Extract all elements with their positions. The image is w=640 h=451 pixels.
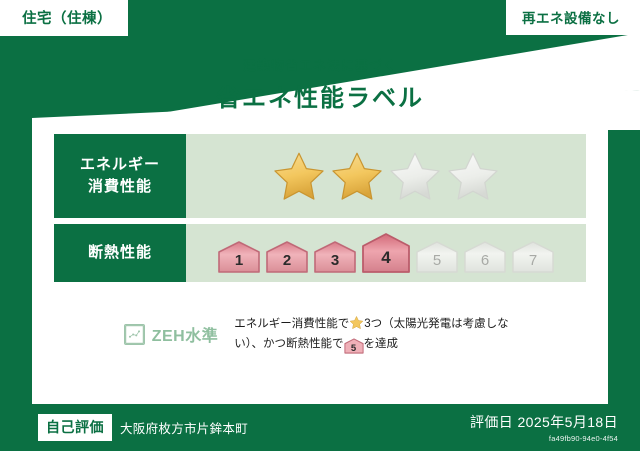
star-icon-empty-4 xyxy=(445,148,501,204)
star-rating xyxy=(271,148,501,204)
insulation-performance-label: 断熱性能 xyxy=(54,224,186,282)
grade-house-2: 2 xyxy=(265,240,309,274)
insulation-grade-scale: 1 2 xyxy=(217,232,555,274)
grade-house-7-value: 7 xyxy=(529,252,537,274)
star-icon-filled-2 xyxy=(329,148,385,204)
inline-grade-house-icon: 5 xyxy=(344,338,364,354)
grade-house-3-value: 3 xyxy=(331,252,339,274)
insulation-performance-row: 断熱性能 1 xyxy=(54,224,586,282)
inline-star-icon xyxy=(349,315,364,330)
renewable-energy-tag: 再エネ設備なし xyxy=(506,0,640,35)
zeh-desc-part1: エネルギー消費性能で xyxy=(234,318,349,330)
energy-performance-row: エネルギー 消費性能 xyxy=(54,134,586,218)
grade-house-4-achieved: 4 xyxy=(361,232,411,274)
zeh-description: エネルギー消費性能で3つ（太陽光発電は考慮しない）、かつ断熱性能で5を達成 xyxy=(234,314,516,354)
grade-house-4-value: 4 xyxy=(381,248,390,274)
property-address: 大阪府枚方市片鉾本町 xyxy=(120,418,248,437)
zeh-label: ZEH水準 xyxy=(152,322,219,346)
star-icon-filled-1 xyxy=(271,148,327,204)
energy-performance-label: エネルギー 消費性能 xyxy=(54,134,186,218)
zeh-desc-part3: を達成 xyxy=(364,338,399,350)
inline-grade-house-value: 5 xyxy=(351,343,356,354)
page-title: 省エネ性能ラベル xyxy=(0,78,640,113)
grade-house-1-value: 1 xyxy=(235,252,243,274)
footer: 自己評価 大阪府枚方市片鉾本町 評価日 2025年5月18日 fa49fb90-… xyxy=(0,404,640,451)
energy-performance-value xyxy=(186,134,586,218)
energy-label-line1: エネルギー xyxy=(80,154,160,176)
grade-house-5: 5 xyxy=(415,240,459,274)
label-card: エネルギー 消費性能 xyxy=(32,118,608,404)
zeh-scatter-icon xyxy=(124,324,145,345)
grade-house-2-value: 2 xyxy=(283,252,291,274)
zeh-note: ZEH水準 エネルギー消費性能で3つ（太陽光発電は考慮しない）、かつ断熱性能で5… xyxy=(32,314,608,354)
insulation-performance-value: 1 2 xyxy=(186,224,586,282)
title-subtitle: 建築物省エネ法に基づく xyxy=(0,55,640,74)
energy-label-line2: 消費性能 xyxy=(88,176,152,198)
building-type-tag: 住宅（住棟） xyxy=(0,0,128,36)
grade-house-6: 6 xyxy=(463,240,507,274)
grade-house-6-value: 6 xyxy=(481,252,489,274)
evaluation-date: 評価日 2025年5月18日 xyxy=(470,412,618,432)
footer-right: 評価日 2025年5月18日 fa49fb90-94e0-4f54 xyxy=(470,412,618,443)
grade-house-3: 3 xyxy=(313,240,357,274)
self-evaluation-badge: 自己評価 xyxy=(38,414,112,441)
star-icon-empty-3 xyxy=(387,148,443,204)
insulation-label-line1: 断熱性能 xyxy=(88,242,152,264)
rating-rows: エネルギー 消費性能 xyxy=(54,134,586,288)
title-block: 建築物省エネ法に基づく 省エネ性能ラベル xyxy=(0,55,640,113)
zeh-badge: ZEH水準 xyxy=(124,322,219,346)
footer-left: 自己評価 大阪府枚方市片鉾本町 xyxy=(38,414,248,441)
document-id: fa49fb90-94e0-4f54 xyxy=(470,434,618,443)
zeh-desc-star-text: 3つ（太陽光発電 xyxy=(364,318,451,330)
grade-house-5-value: 5 xyxy=(433,252,441,274)
energy-label-root: 住宅（住棟） 再エネ設備なし 建築物省エネ法に基づく 省エネ性能ラベル エネルギ… xyxy=(0,0,640,451)
grade-house-1: 1 xyxy=(217,240,261,274)
grade-house-7: 7 xyxy=(511,240,555,274)
